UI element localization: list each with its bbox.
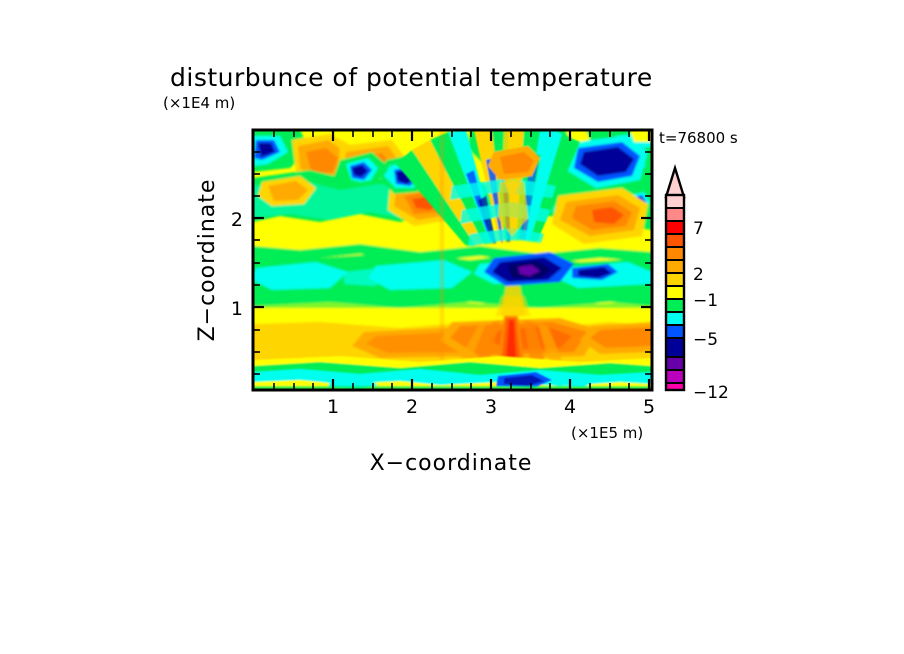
x-tick-label-1: 1 <box>327 396 339 418</box>
y-axis-label: Z−coordinate <box>195 179 220 342</box>
x-tick-label-3: 3 <box>485 396 497 418</box>
colorbar-band-11 <box>666 338 684 357</box>
colorbar-label-neg5: −5 <box>693 330 718 350</box>
x-tick-label-5: 5 <box>643 396 655 418</box>
title-unit-label: (×1E4 m) <box>163 94 235 112</box>
colorbar-band-7 <box>666 286 684 299</box>
contour-mid-band <box>252 238 652 320</box>
colorbar-band-0 <box>666 195 684 208</box>
colorbar-band-13 <box>666 370 684 383</box>
y-tick-label-1: 1 <box>231 298 243 320</box>
colorbar-band-1 <box>666 208 684 221</box>
colorbar-band-6 <box>666 273 684 286</box>
time-annotation: t=76800 s <box>659 129 738 147</box>
colorbar-band-3 <box>666 234 684 247</box>
colorbar-label-neg1: −1 <box>693 291 718 311</box>
colorbar-label-7: 7 <box>693 219 704 239</box>
x-tick-label-2: 2 <box>406 396 418 418</box>
colorbar-band-9 <box>666 312 684 325</box>
colorbar-band-10 <box>666 325 684 338</box>
x-tick-label-4: 4 <box>564 396 576 418</box>
colorbar-band-12 <box>666 357 684 370</box>
colorbar-band-5 <box>666 260 684 273</box>
colorbar-bands <box>666 195 684 390</box>
contour-field <box>252 130 652 390</box>
colorbar-label-2: 2 <box>693 265 704 285</box>
page-title: disturbunce of potential temperature <box>170 63 653 92</box>
y-tick-label-2: 2 <box>231 209 243 231</box>
x-axis-label: X−coordinate <box>370 451 533 476</box>
x-axis-unit-label: (×1E5 m) <box>571 424 643 442</box>
colorbar-band-2 <box>666 221 684 234</box>
contour-plot-figure: disturbunce of potential temperature (×1… <box>0 0 904 654</box>
colorbar-label-neg12: −12 <box>693 383 729 403</box>
colorbar-band-4 <box>666 247 684 260</box>
colorbar-band-8 <box>666 299 684 312</box>
